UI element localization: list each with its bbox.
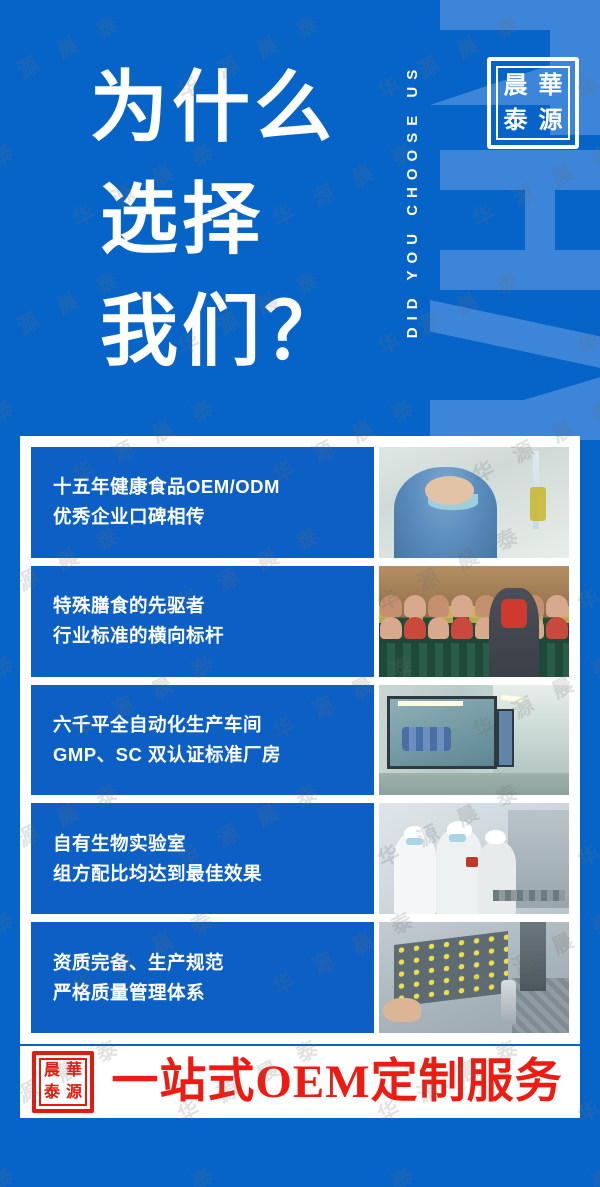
brand-seal-red-icon: 晨 華 泰 源 [32, 1051, 94, 1113]
feature-cards-list: 十五年健康食品OEM/ODM 优秀企业口碑相传 特殊膳食的先驱者 行业标准的横向… [31, 447, 569, 1033]
seal-char-tai: 泰 [44, 1085, 60, 1101]
card-text-block: 自有生物实验室 组方配比均达到最佳效果 [31, 803, 374, 914]
bg-shape-9 [430, 400, 600, 440]
red-scarf-shape [501, 599, 528, 628]
bg-shape-4 [440, 150, 600, 190]
watermark-text: 华 源 晨 泰 [0, 133, 26, 234]
card-line-2: 优秀企业口碑相传 [53, 502, 374, 532]
list-item[interactable]: 自有生物实验室 组方配比均达到最佳效果 [31, 803, 569, 914]
sample-shape [530, 487, 546, 521]
card-line-1: 十五年健康食品OEM/ODM [53, 472, 374, 502]
machine-post-shape [501, 980, 516, 1024]
card-line-2: 组方配比均达到最佳效果 [53, 859, 374, 889]
watermark-text: 华 源 晨 泰 [0, 1157, 26, 1187]
headline-line-1: 为什么 [90, 52, 390, 164]
vertical-english-caption: DID YOU CHOOSE US [393, 0, 433, 400]
vertical-caption-text: DID YOU CHOOSE US [405, 62, 422, 337]
card-photo-lab-staff-production-line [379, 803, 569, 914]
seal-char-chen: 晨 [44, 1063, 60, 1079]
photo-illustration [379, 566, 569, 677]
footer-slogan: 一站式OEM定制服务 [104, 1059, 570, 1106]
gowned-person-shape [478, 841, 516, 914]
door-shape [497, 709, 514, 767]
machine-arm-shape [520, 922, 547, 991]
table-skirt-shape [379, 643, 569, 676]
watermark-text: 华 源 晨 泰 [67, 1157, 226, 1187]
bg-shape-6 [440, 250, 600, 290]
watermark-text: 华 源 晨 泰 [267, 1157, 426, 1187]
photo-illustration [379, 685, 569, 796]
bg-shape-5 [525, 190, 555, 250]
list-item[interactable]: 六千平全自动化生产车间 GMP、SC 双认证标准厂房 [31, 685, 569, 796]
footer-banner: 晨 華 泰 源 一站式OEM定制服务 [20, 1046, 580, 1118]
photo-illustration [379, 447, 569, 558]
audience-row-front [379, 617, 569, 639]
card-line-2: 严格质量管理体系 [53, 978, 374, 1008]
photo-illustration [379, 922, 569, 1033]
poster-root: DID YOU CHOOSE US 晨 華 泰 源 为什么 选择 我们？ 十五年… [0, 0, 600, 1187]
watermark-text: 华 源 晨 泰 [467, 1157, 600, 1187]
seal-char-yuan: 源 [539, 109, 563, 133]
card-text-block: 资质完备、生产规范 严格质量管理体系 [31, 922, 374, 1033]
card-photo-blister-packing-machine [379, 922, 569, 1033]
seal-char-hua: 華 [539, 74, 563, 98]
card-line-1: 资质完备、生产规范 [53, 948, 374, 978]
face-mask-shape [449, 834, 466, 842]
card-line-1: 六千平全自动化生产车间 [53, 710, 374, 740]
seal-char-tai: 泰 [504, 109, 528, 133]
headline-line-3: 我们？ [90, 276, 390, 388]
feature-cards-panel: 十五年健康食品OEM/ODM 优秀企业口碑相传 特殊膳食的先驱者 行业标准的横向… [20, 436, 580, 1044]
card-line-2: 行业标准的横向标杆 [53, 621, 374, 651]
card-line-1: 自有生物实验室 [53, 829, 374, 859]
headline-line-2: 选择 [90, 164, 390, 276]
brand-seal-red-inner: 晨 華 泰 源 [39, 1058, 87, 1106]
seal-char-hua: 華 [66, 1063, 82, 1079]
photo-illustration [379, 803, 569, 914]
operator-hand-shape [383, 998, 421, 1022]
conveyor-belt-shape [493, 890, 565, 901]
list-item[interactable]: 资质完备、生产规范 严格质量管理体系 [31, 922, 569, 1033]
page-title: 为什么 选择 我们？ [90, 52, 390, 388]
list-item[interactable]: 十五年健康食品OEM/ODM 优秀企业口碑相传 [31, 447, 569, 558]
list-item[interactable]: 特殊膳食的先驱者 行业标准的横向标杆 [31, 566, 569, 677]
ceiling-lamp-shape [398, 701, 463, 706]
tablet-tray-shape [394, 931, 508, 1007]
card-line-1: 特殊膳食的先驱者 [53, 591, 374, 621]
face-mask-shape [428, 494, 477, 511]
card-photo-cleanroom-corridor [379, 685, 569, 796]
brand-seal-white-icon: 晨 華 泰 源 [487, 57, 579, 149]
seal-char-chen: 晨 [504, 74, 528, 98]
bg-shape-7 [430, 300, 600, 370]
workers-shape [402, 727, 451, 751]
hair-cap-shape [485, 830, 506, 844]
card-photo-lab-technician-pipetting [379, 447, 569, 558]
face-mask-shape [406, 838, 423, 846]
card-photo-conference-audience [379, 566, 569, 677]
card-text-block: 六千平全自动化生产车间 GMP、SC 双认证标准厂房 [31, 685, 374, 796]
product-shape [466, 857, 477, 867]
card-line-2: GMP、SC 双认证标准厂房 [53, 740, 374, 770]
card-text-block: 十五年健康食品OEM/ODM 优秀企业口碑相传 [31, 447, 374, 558]
audience-row-back [379, 595, 569, 617]
floor-shape [379, 773, 569, 795]
brand-seal-white-inner: 晨 華 泰 源 [496, 66, 570, 140]
seal-char-yuan: 源 [66, 1085, 82, 1101]
card-text-block: 特殊膳食的先驱者 行业标准的横向标杆 [31, 566, 374, 677]
